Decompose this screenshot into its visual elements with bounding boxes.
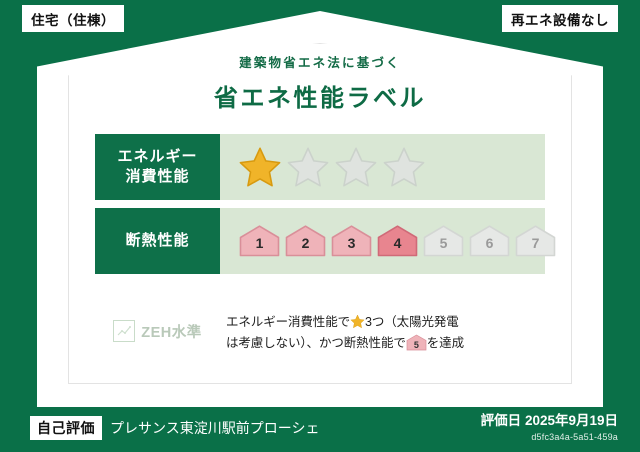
zeh-chart-icon (113, 320, 135, 342)
insulation-level-5: 5 (422, 224, 465, 258)
insulation-level-value: 6 (468, 235, 511, 251)
insulation-performance-value: 1234567 (220, 208, 557, 274)
note-line2-suffix: を達成 (427, 336, 464, 350)
zeh-note-block: ZEH水準 エネルギー消費性能で 3つ（太陽光発電 は考慮しない）、かつ断熱性能… (95, 312, 545, 353)
insulation-level-value: 7 (514, 235, 557, 251)
evaluation-date-label: 評価日 (481, 413, 522, 428)
insulation-level-4: 4 (376, 224, 419, 258)
evaluation-date-value: 2025年9月19日 (525, 413, 618, 428)
star-filled-icon (238, 146, 282, 188)
note-line1-prefix: エネルギー消費性能で (226, 315, 350, 329)
insulation-performance-label: 断熱性能 (95, 208, 220, 274)
insulation-level-value: 4 (376, 235, 419, 251)
evaluation-date: 評価日 2025年9月19日 (481, 409, 618, 429)
insulation-level-value: 3 (330, 235, 373, 251)
ratings-section: エネルギー 消費性能 断熱性能 1234567 (95, 134, 545, 282)
insulation-level-value: 2 (284, 235, 327, 251)
energy-label-line2: 消費性能 (125, 167, 189, 187)
tag-renewable-equipment: 再エネ設備なし (502, 5, 618, 32)
title-block: 建築物省エネ法に基づく 省エネ性能ラベル (0, 52, 640, 113)
insulation-level-2: 2 (284, 224, 327, 258)
insulation-level-1: 1 (238, 224, 281, 258)
energy-consumption-value (220, 134, 545, 200)
star-rating (238, 146, 426, 188)
building-name: プレサンス東淀川駅前プローシェ (110, 418, 319, 438)
insulation-level-value: 5 (422, 235, 465, 251)
energy-performance-label: 住宅（住棟） 再エネ設備なし 建築物省エネ法に基づく 省エネ性能ラベル エネルギ… (0, 0, 640, 452)
zeh-standard: ZEH水準 (95, 312, 220, 342)
insulation-performance-row: 断熱性能 1234567 (95, 208, 545, 274)
inline-insulation-badge: 5 (406, 334, 427, 351)
star-empty-icon (286, 146, 330, 188)
insulation-level-3: 3 (330, 224, 373, 258)
insulation-label-text: 断熱性能 (125, 231, 189, 251)
evaluation-id: d5fc3a4a-5a51-459a (481, 432, 618, 442)
inline-star-icon (350, 314, 365, 329)
tag-dwelling-type: 住宅（住棟） (22, 5, 124, 32)
note-line1-suffix: 3つ（太陽光発電 (365, 315, 459, 329)
insulation-level-6: 6 (468, 224, 511, 258)
footer-left: 自己評価 プレサンス東淀川駅前プローシェ (30, 416, 319, 440)
energy-consumption-row: エネルギー 消費性能 (95, 134, 545, 200)
page-title: 省エネ性能ラベル (0, 78, 640, 113)
star-empty-icon (382, 146, 426, 188)
star-empty-icon (334, 146, 378, 188)
insulation-level-7: 7 (514, 224, 557, 258)
title-subtitle: 建築物省エネ法に基づく (0, 52, 640, 71)
self-evaluation-badge: 自己評価 (30, 416, 102, 440)
achievement-description: エネルギー消費性能で 3つ（太陽光発電 は考慮しない）、かつ断熱性能で 5 を達… (220, 312, 545, 353)
insulation-level-value: 1 (238, 235, 281, 251)
insulation-scale: 1234567 (238, 224, 557, 258)
note-line2-prefix: は考慮しない）、かつ断熱性能で (226, 336, 406, 350)
zeh-label: ZEH水準 (141, 321, 202, 342)
energy-consumption-label: エネルギー 消費性能 (95, 134, 220, 200)
footer-right: 評価日 2025年9月19日 d5fc3a4a-5a51-459a (481, 409, 618, 442)
energy-label-line1: エネルギー (117, 147, 197, 167)
inline-badge-value: 5 (406, 338, 427, 353)
